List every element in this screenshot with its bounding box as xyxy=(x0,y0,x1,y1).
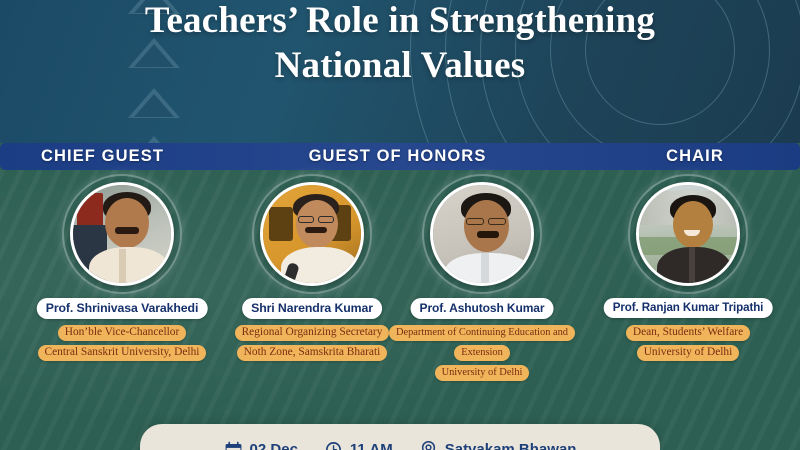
event-time: 11 AM xyxy=(324,440,393,450)
role-header-guest-of-honors: GUEST OF HONORS xyxy=(205,143,590,170)
event-venue: Satyakam Bhawan xyxy=(419,440,577,450)
designation-line: University of Delhi xyxy=(637,345,740,361)
portrait-guest-of-honor-1 xyxy=(260,182,364,286)
dignitary-designation: Dean, Students’ Welfare University of De… xyxy=(583,322,793,362)
event-time-text: 11 AM xyxy=(350,441,393,450)
dignitaries-list: Prof. Shrinivasa Varakhedi Hon’ble Vice-… xyxy=(0,170,800,450)
portrait-guest-of-honor-2 xyxy=(430,182,534,286)
dignitary-designation: Hon’ble Vice-Chancellor Central Sanskrit… xyxy=(17,322,227,362)
triangle-decoration xyxy=(128,88,180,118)
location-pin-icon xyxy=(419,440,438,450)
role-header-chair: CHAIR xyxy=(590,143,800,170)
designation-line: Department of Continuing Education and xyxy=(389,325,575,341)
portrait-wrapper xyxy=(70,182,174,286)
dignitary-name: Shri Narendra Kumar xyxy=(242,298,382,319)
designation-line: University of Delhi xyxy=(435,365,530,381)
role-banner: CHIEF GUEST GUEST OF HONORS CHAIR xyxy=(0,143,800,170)
poster-title: Teachers’ Role in Strengthening National… xyxy=(0,0,800,88)
dignitary-card: Prof. Ranjan Kumar Tripathi Dean, Studen… xyxy=(588,170,788,420)
portrait-wrapper xyxy=(260,182,364,286)
portrait-wrapper xyxy=(430,182,534,286)
dignitary-card: Prof. Ashutosh Kumar Department of Conti… xyxy=(382,170,582,420)
triangle-decoration xyxy=(128,136,180,143)
designation-line: Central Sanskrit University, Delhi xyxy=(38,345,207,361)
dignitary-name: Prof. Shrinivasa Varakhedi xyxy=(37,298,208,319)
designation-line: Hon’ble Vice-Chancellor xyxy=(58,325,187,341)
calendar-icon xyxy=(224,440,243,450)
dignitary-name: Prof. Ashutosh Kumar xyxy=(411,298,554,319)
event-details-bar: 02 Dec 11 AM Satyakam Bhawan xyxy=(140,424,660,450)
poster-title-line-2: National Values xyxy=(0,43,800,88)
dignitary-designation: Department of Continuing Education and E… xyxy=(367,322,597,382)
role-header-chief-guest: CHIEF GUEST xyxy=(0,143,205,170)
event-date-text: 02 Dec xyxy=(250,441,298,450)
event-poster: Teachers’ Role in Strengthening National… xyxy=(0,0,800,450)
designation-line: Extension xyxy=(454,345,510,361)
portrait-chair xyxy=(636,182,740,286)
portrait-wrapper xyxy=(636,182,740,286)
dignitary-name: Prof. Ranjan Kumar Tripathi xyxy=(604,298,773,318)
clock-icon xyxy=(324,440,343,450)
poster-title-line-1: Teachers’ Role in Strengthening xyxy=(0,0,800,43)
event-date: 02 Dec xyxy=(224,440,298,450)
portrait-chief-guest xyxy=(70,182,174,286)
designation-line: Dean, Students’ Welfare xyxy=(626,325,750,341)
dignitary-card: Prof. Shrinivasa Varakhedi Hon’ble Vice-… xyxy=(22,170,222,420)
designation-line: Noth Zone, Samskrita Bharati xyxy=(237,345,388,361)
event-venue-text: Satyakam Bhawan xyxy=(445,441,577,450)
